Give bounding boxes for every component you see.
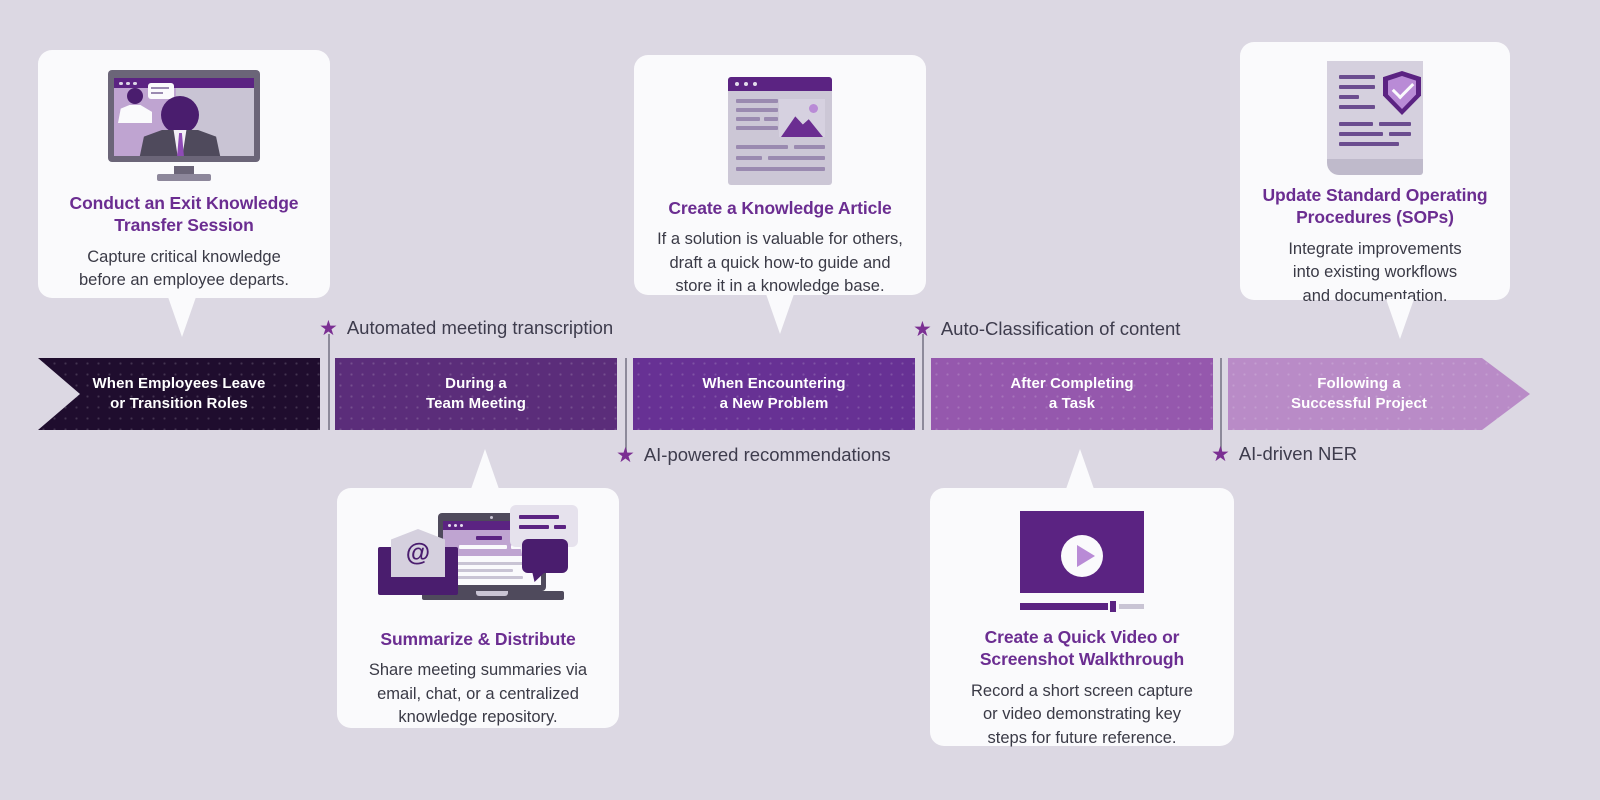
timeline-bar: When Employees Leave or Transition Roles… [0, 358, 1600, 430]
card-title: Create a Knowledge Article [652, 197, 908, 219]
card-description: If a solution is valuable for others, dr… [652, 228, 908, 298]
star-icon: ★ [319, 318, 338, 339]
card-pointer-up [471, 449, 499, 489]
timeline-segment-during-team-meeting[interactable]: During a Team Meeting [335, 358, 617, 430]
segment-label: Following a Successful Project [1291, 374, 1427, 414]
annotation-connector-line [328, 334, 330, 430]
video-player-icon [948, 504, 1216, 620]
timeline-segment-following-successful-project[interactable]: Following a Successful Project [1228, 358, 1530, 430]
card-pointer-down [766, 294, 794, 334]
card-title: Summarize & Distribute [355, 628, 601, 650]
annotation-label: Auto-Classification of content [941, 318, 1181, 340]
star-icon: ★ [616, 445, 635, 466]
card-update-sops[interactable]: Update Standard Operating Procedures (SO… [1240, 42, 1510, 300]
card-description: Capture critical knowledge before an emp… [56, 246, 312, 293]
annotation-automated-meeting-transcription: ★ Automated meeting transcription [319, 317, 613, 339]
segment-label: When Encountering a New Problem [702, 374, 845, 414]
timeline-segment-when-employees-leave[interactable]: When Employees Leave or Transition Roles [38, 358, 320, 430]
card-summarize-distribute[interactable]: @ Summarize & Distribute Share meeting s… [337, 488, 619, 728]
document-shield-check-icon [1258, 58, 1492, 178]
annotation-connector-line [625, 358, 627, 456]
segment-label: When Employees Leave or Transition Roles [93, 374, 266, 414]
annotation-label: Automated meeting transcription [347, 317, 613, 339]
star-icon: ★ [1211, 444, 1230, 465]
segment-label: During a Team Meeting [426, 374, 526, 414]
segment-label: After Completing a Task [1010, 374, 1133, 414]
card-pointer-down [168, 297, 196, 337]
timeline-segment-after-completing-task[interactable]: After Completing a Task [931, 358, 1213, 430]
annotation-connector-line [922, 334, 924, 430]
card-title: Create a Quick Video or Screenshot Walkt… [948, 626, 1216, 671]
annotation-auto-classification-of-content: ★ Auto-Classification of content [913, 318, 1180, 340]
card-title-line1: Conduct an Exit Knowledge [70, 193, 299, 213]
annotation-connector-line [1220, 358, 1222, 456]
diagram-canvas: Conduct an Exit Knowledge Transfer Sessi… [0, 0, 1600, 800]
card-title: Conduct an Exit Knowledge Transfer Sessi… [56, 192, 312, 237]
annotation-ai-driven-ner: ★ AI-driven NER [1211, 443, 1357, 465]
card-title: Update Standard Operating Procedures (SO… [1258, 184, 1492, 229]
timeline-segment-when-encountering-new-problem[interactable]: When Encountering a New Problem [633, 358, 915, 430]
card-exit-knowledge-transfer[interactable]: Conduct an Exit Knowledge Transfer Sessi… [38, 50, 330, 298]
card-pointer-down [1386, 299, 1414, 339]
annotation-label: AI-powered recommendations [644, 444, 891, 466]
card-description: Integrate improvements into existing wor… [1258, 238, 1492, 308]
card-description: Record a short screen capture or video d… [948, 680, 1216, 750]
annotation-label: AI-driven NER [1239, 443, 1357, 465]
video-conference-monitor-icon [56, 66, 312, 186]
card-quick-video-walkthrough[interactable]: Create a Quick Video or Screenshot Walkt… [930, 488, 1234, 746]
card-knowledge-article[interactable]: Create a Knowledge Article If a solution… [634, 55, 926, 295]
annotation-ai-powered-recommendations: ★ AI-powered recommendations [616, 444, 891, 466]
star-icon: ★ [913, 319, 932, 340]
laptop-email-chat-icon: @ [355, 504, 601, 622]
card-title-line2: Transfer Session [114, 215, 253, 235]
browser-article-icon [652, 71, 908, 191]
card-pointer-up [1066, 449, 1094, 489]
card-description: Share meeting summaries via email, chat,… [355, 659, 601, 729]
